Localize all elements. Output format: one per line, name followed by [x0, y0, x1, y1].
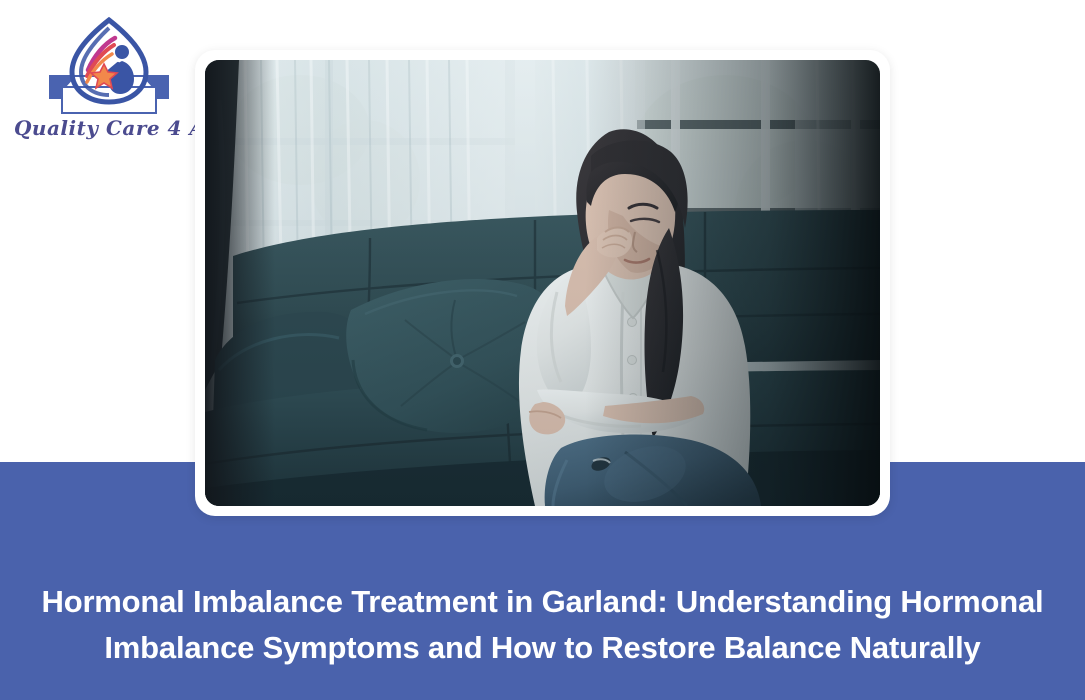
flame-droplet-person-logo-icon [14, 14, 204, 118]
logo[interactable]: Quality Care 4 All [14, 14, 204, 150]
hero-photo [205, 60, 880, 506]
page-title: Hormonal Imbalance Treatment in Garland:… [0, 579, 1085, 671]
hero-photo-card [195, 50, 890, 516]
banner-root: Quality Care 4 All [0, 0, 1085, 700]
logo-wordmark: Quality Care 4 All [14, 116, 204, 140]
